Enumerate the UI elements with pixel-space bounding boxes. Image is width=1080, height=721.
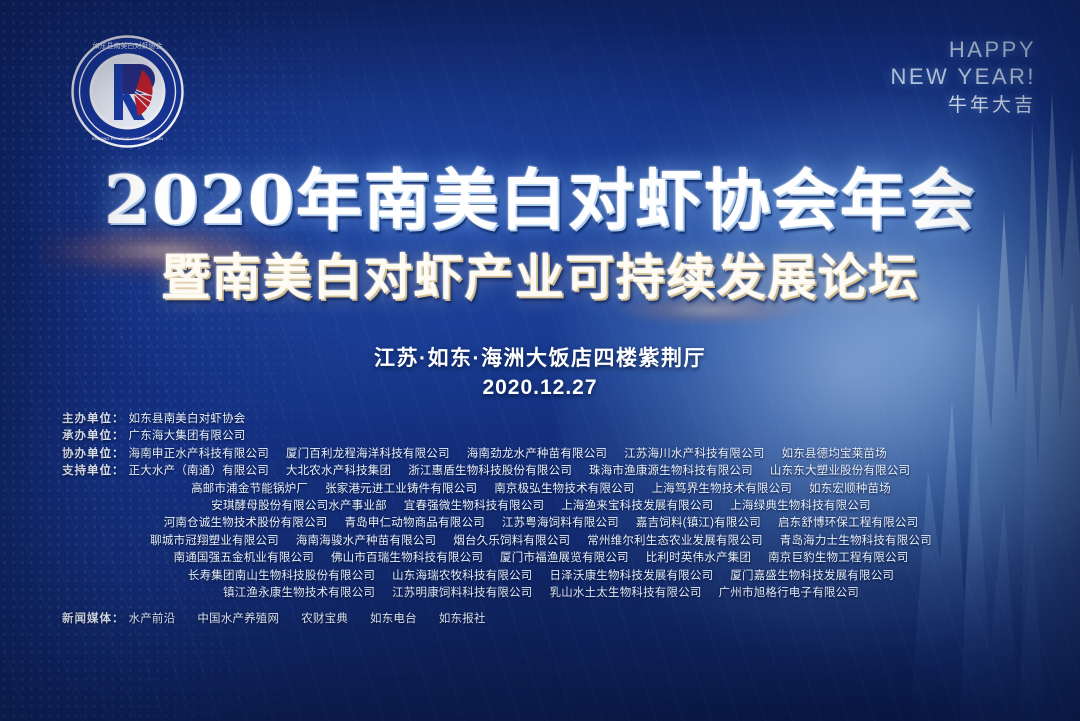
supporters-items-row-0: 正大水产（南通）有限公司大北农水产科技集团浙江惠盾生物科技股份有限公司珠海市渔康… [129,463,1021,480]
sponsor-row-supporters-3: 河南仓诚生物技术股份有限公司青岛申仁动物商品有限公司江苏粤海饲料有限公司嘉吉饲料… [62,515,1020,532]
sponsor-item: 海南海骏水产种苗有限公司 [296,535,436,547]
sponsor-item: 中国水产养殖网 [197,613,279,625]
greeting-line-2: NEW YEAR! [890,63,1036,90]
sponsor-item: 河南仓诚生物技术股份有限公司 [164,517,328,529]
co-organizer-label: 协办单位： [62,446,125,463]
supporters-items-row-4: 聊城市冠翔塑业有限公司海南海骏水产种苗有限公司烟台久乐饲料有限公司常州维尔利生态… [150,533,932,550]
sponsor-item: 水产前沿 [129,613,176,625]
sponsor-item: 浙江惠盾生物科技股份有限公司 [408,465,572,477]
sponsor-credits: 主办单位： 如东县南美白对虾协会 承办单位： 广东海大集团有限公司 协办单位： … [62,411,1020,629]
main-title: 2020年南美白对虾协会年会 [0,163,1080,237]
supporters-items-row-7: 镇江渔永康生物技术有限公司江苏明康饲料科技有限公司乳山水土太生物科技有限公司广州… [223,585,859,602]
sponsor-item: 厦门嘉盛生物科技发展有限公司 [730,570,894,582]
sponsor-item: 乳山水土太生物科技有限公司 [550,587,702,599]
supporters-items-row-1: 高邮市浦金节能锅炉厂张家港元进工业铸件有限公司南京极弘生物技术有限公司上海笃界生… [191,481,891,498]
sponsor-item: 启东舒博环保工程有限公司 [778,517,918,529]
sponsor-item: 上海笃界生物技术有限公司 [652,483,792,495]
sponsor-item: 如东报社 [439,613,486,625]
media-label: 新闻媒体： [62,611,125,628]
sponsor-item: 常州维尔利生态农业发展有限公司 [587,535,763,547]
sponsor-item: 山东海瑞农牧科技有限公司 [392,570,532,582]
sponsor-item: 高邮市浦金节能锅炉厂 [191,483,308,495]
sponsor-item: 如东县南美白对虾协会 [129,413,246,425]
sponsor-item: 安琪酵母股份有限公司水产事业部 [211,500,387,512]
supporters-items-row-2: 安琪酵母股份有限公司水产事业部宜春强微生物科技有限公司上海渔来宝科技发展有限公司… [211,498,870,515]
sponsor-item: 嘉吉饲料(镇江)有限公司 [636,517,761,529]
sponsor-row-supporters-1: 高邮市浦金节能锅炉厂张家港元进工业铸件有限公司南京极弘生物技术有限公司上海笃界生… [62,481,1020,498]
sponsor-row-supporters-4: 聊城市冠翔塑业有限公司海南海骏水产种苗有限公司烟台久乐饲料有限公司常州维尔利生态… [62,533,1020,550]
sponsor-row-co-organizer: 协办单位： 海南申正水产科技有限公司厦门百利龙程海洋科技有限公司海南劲龙水产种苗… [62,446,1020,463]
sponsor-row-supporters-2: 安琪酵母股份有限公司水产事业部宜春强微生物科技有限公司上海渔来宝科技发展有限公司… [62,498,1020,515]
sponsor-item: 如东县德均宝莱苗场 [782,448,887,460]
sponsor-row-supporters-5: 南通国强五金机业有限公司佛山市百瑞生物科技有限公司厦门市福渔展览有限公司比利时英… [62,550,1020,567]
sponsor-row-organizer: 承办单位： 广东海大集团有限公司 [62,428,1020,445]
sponsor-item: 江苏粤海饲料有限公司 [502,517,619,529]
sponsor-item: 厦门百利龙程海洋科技有限公司 [286,448,450,460]
sponsor-item: 如东宏顺种苗场 [809,483,891,495]
sponsor-item: 南通国强五金机业有限公司 [174,552,314,564]
sponsor-item: 广东海大集团有限公司 [129,430,246,442]
sponsor-item: 珠海市渔康源生物科技有限公司 [589,465,753,477]
supporters-items-row-3: 河南仓诚生物技术股份有限公司青岛申仁动物商品有限公司江苏粤海饲料有限公司嘉吉饲料… [164,515,919,532]
sponsor-item: 张家港元进工业铸件有限公司 [325,483,477,495]
sponsor-item: 宜春强微生物科技有限公司 [404,500,544,512]
sponsor-item: 厦门市福渔展览有限公司 [500,552,629,564]
sponsor-item: 江苏明康饲料科技有限公司 [392,587,532,599]
svg-text:RUDONG PENAEUS VANNAMEI ASSN: RUDONG PENAEUS VANNAMEI ASSN [92,136,164,141]
event-date: 2020.12.27 [0,373,1080,403]
sponsor-item: 海南劲龙水产种苗有限公司 [467,448,607,460]
sponsor-item: 佛山市百瑞生物科技有限公司 [331,552,483,564]
sponsor-item: 山东东大塑业股份有限公司 [770,465,910,477]
sponsor-item: 江苏海川水产科技有限公司 [624,448,764,460]
sponsor-item: 镇江渔永康生物技术有限公司 [223,587,375,599]
sponsor-row-host: 主办单位： 如东县南美白对虾协会 [62,411,1020,428]
supporters-items-row-6: 长寿集团南山生物科技股份有限公司山东海瑞农牧科技有限公司日泽沃康生物科技发展有限… [188,568,894,585]
organizer-items: 广东海大集团有限公司 [129,428,1021,445]
organizer-label: 承办单位： [62,428,125,445]
sponsor-row-media: 新闻媒体： 水产前沿中国水产养殖网农财宝典如东电台如东报社 [62,611,1020,628]
sponsor-item: 大北农水产科技集团 [286,465,391,477]
sponsor-item: 如东电台 [370,613,417,625]
sponsor-row-supporters-6: 长寿集团南山生物科技股份有限公司山东海瑞农牧科技有限公司日泽沃康生物科技发展有限… [62,568,1020,585]
poster-canvas: 如东县南美白对虾协会 RUDONG PENAEUS VANNAMEI ASSN … [0,0,1080,721]
sponsor-item: 烟台久乐饲料有限公司 [453,535,570,547]
sponsor-row-supporters-7: 镇江渔永康生物技术有限公司江苏明康饲料科技有限公司乳山水土太生物科技有限公司广州… [62,585,1020,602]
sponsor-item: 青岛申仁动物商品有限公司 [344,517,484,529]
sponsor-row-supporters-first: 支持单位： 正大水产（南通）有限公司大北农水产科技集团浙江惠盾生物科技股份有限公… [62,463,1020,480]
greeting-line-1: HAPPY [890,36,1036,63]
sponsor-item: 比利时英伟水产集团 [646,552,751,564]
new-year-greeting: HAPPY NEW YEAR! 牛年大吉 [890,36,1036,119]
supporters-additional-rows: 高邮市浦金节能锅炉厂张家港元进工业铸件有限公司南京极弘生物技术有限公司上海笃界生… [62,481,1020,603]
host-label: 主办单位： [62,411,125,428]
event-venue: 江苏·如东·海洲大饭店四楼紫荆厅 [0,344,1080,374]
sponsor-item: 聊城市冠翔塑业有限公司 [150,535,279,547]
sponsor-item: 海南申正水产科技有限公司 [129,448,269,460]
host-items: 如东县南美白对虾协会 [129,411,1021,428]
sponsor-item: 长寿集团南山生物科技股份有限公司 [188,570,375,582]
sponsor-item: 广州市旭格行电子有限公司 [719,587,859,599]
sponsor-item: 上海绿典生物科技有限公司 [730,500,870,512]
sub-title: 暨南美白对虾产业可持续发展论坛 [0,248,1080,306]
media-items: 水产前沿中国水产养殖网农财宝典如东电台如东报社 [129,611,1021,628]
sponsor-item: 正大水产（南通）有限公司 [129,465,269,477]
co-organizer-items: 海南申正水产科技有限公司厦门百利龙程海洋科技有限公司海南劲龙水产种苗有限公司江苏… [129,446,1021,463]
svg-text:如东县南美白对虾协会: 如东县南美白对虾协会 [93,41,163,50]
sponsor-item: 农财宝典 [301,613,348,625]
supporters-label: 支持单位： [62,463,125,480]
supporters-items-row-5: 南通国强五金机业有限公司佛山市百瑞生物科技有限公司厦门市福渔展览有限公司比利时英… [174,550,909,567]
sponsor-item: 日泽沃康生物科技发展有限公司 [549,570,713,582]
association-logo: 如东县南美白对虾协会 RUDONG PENAEUS VANNAMEI ASSN [70,34,185,149]
sponsor-item: 上海渔来宝科技发展有限公司 [561,500,713,512]
sponsor-item: 南京极弘生物技术有限公司 [494,483,634,495]
sponsor-item: 南京巨豹生物工程有限公司 [768,552,908,564]
sponsor-item: 青岛海力士生物科技有限公司 [780,535,932,547]
greeting-line-3-chinese: 牛年大吉 [890,92,1036,119]
